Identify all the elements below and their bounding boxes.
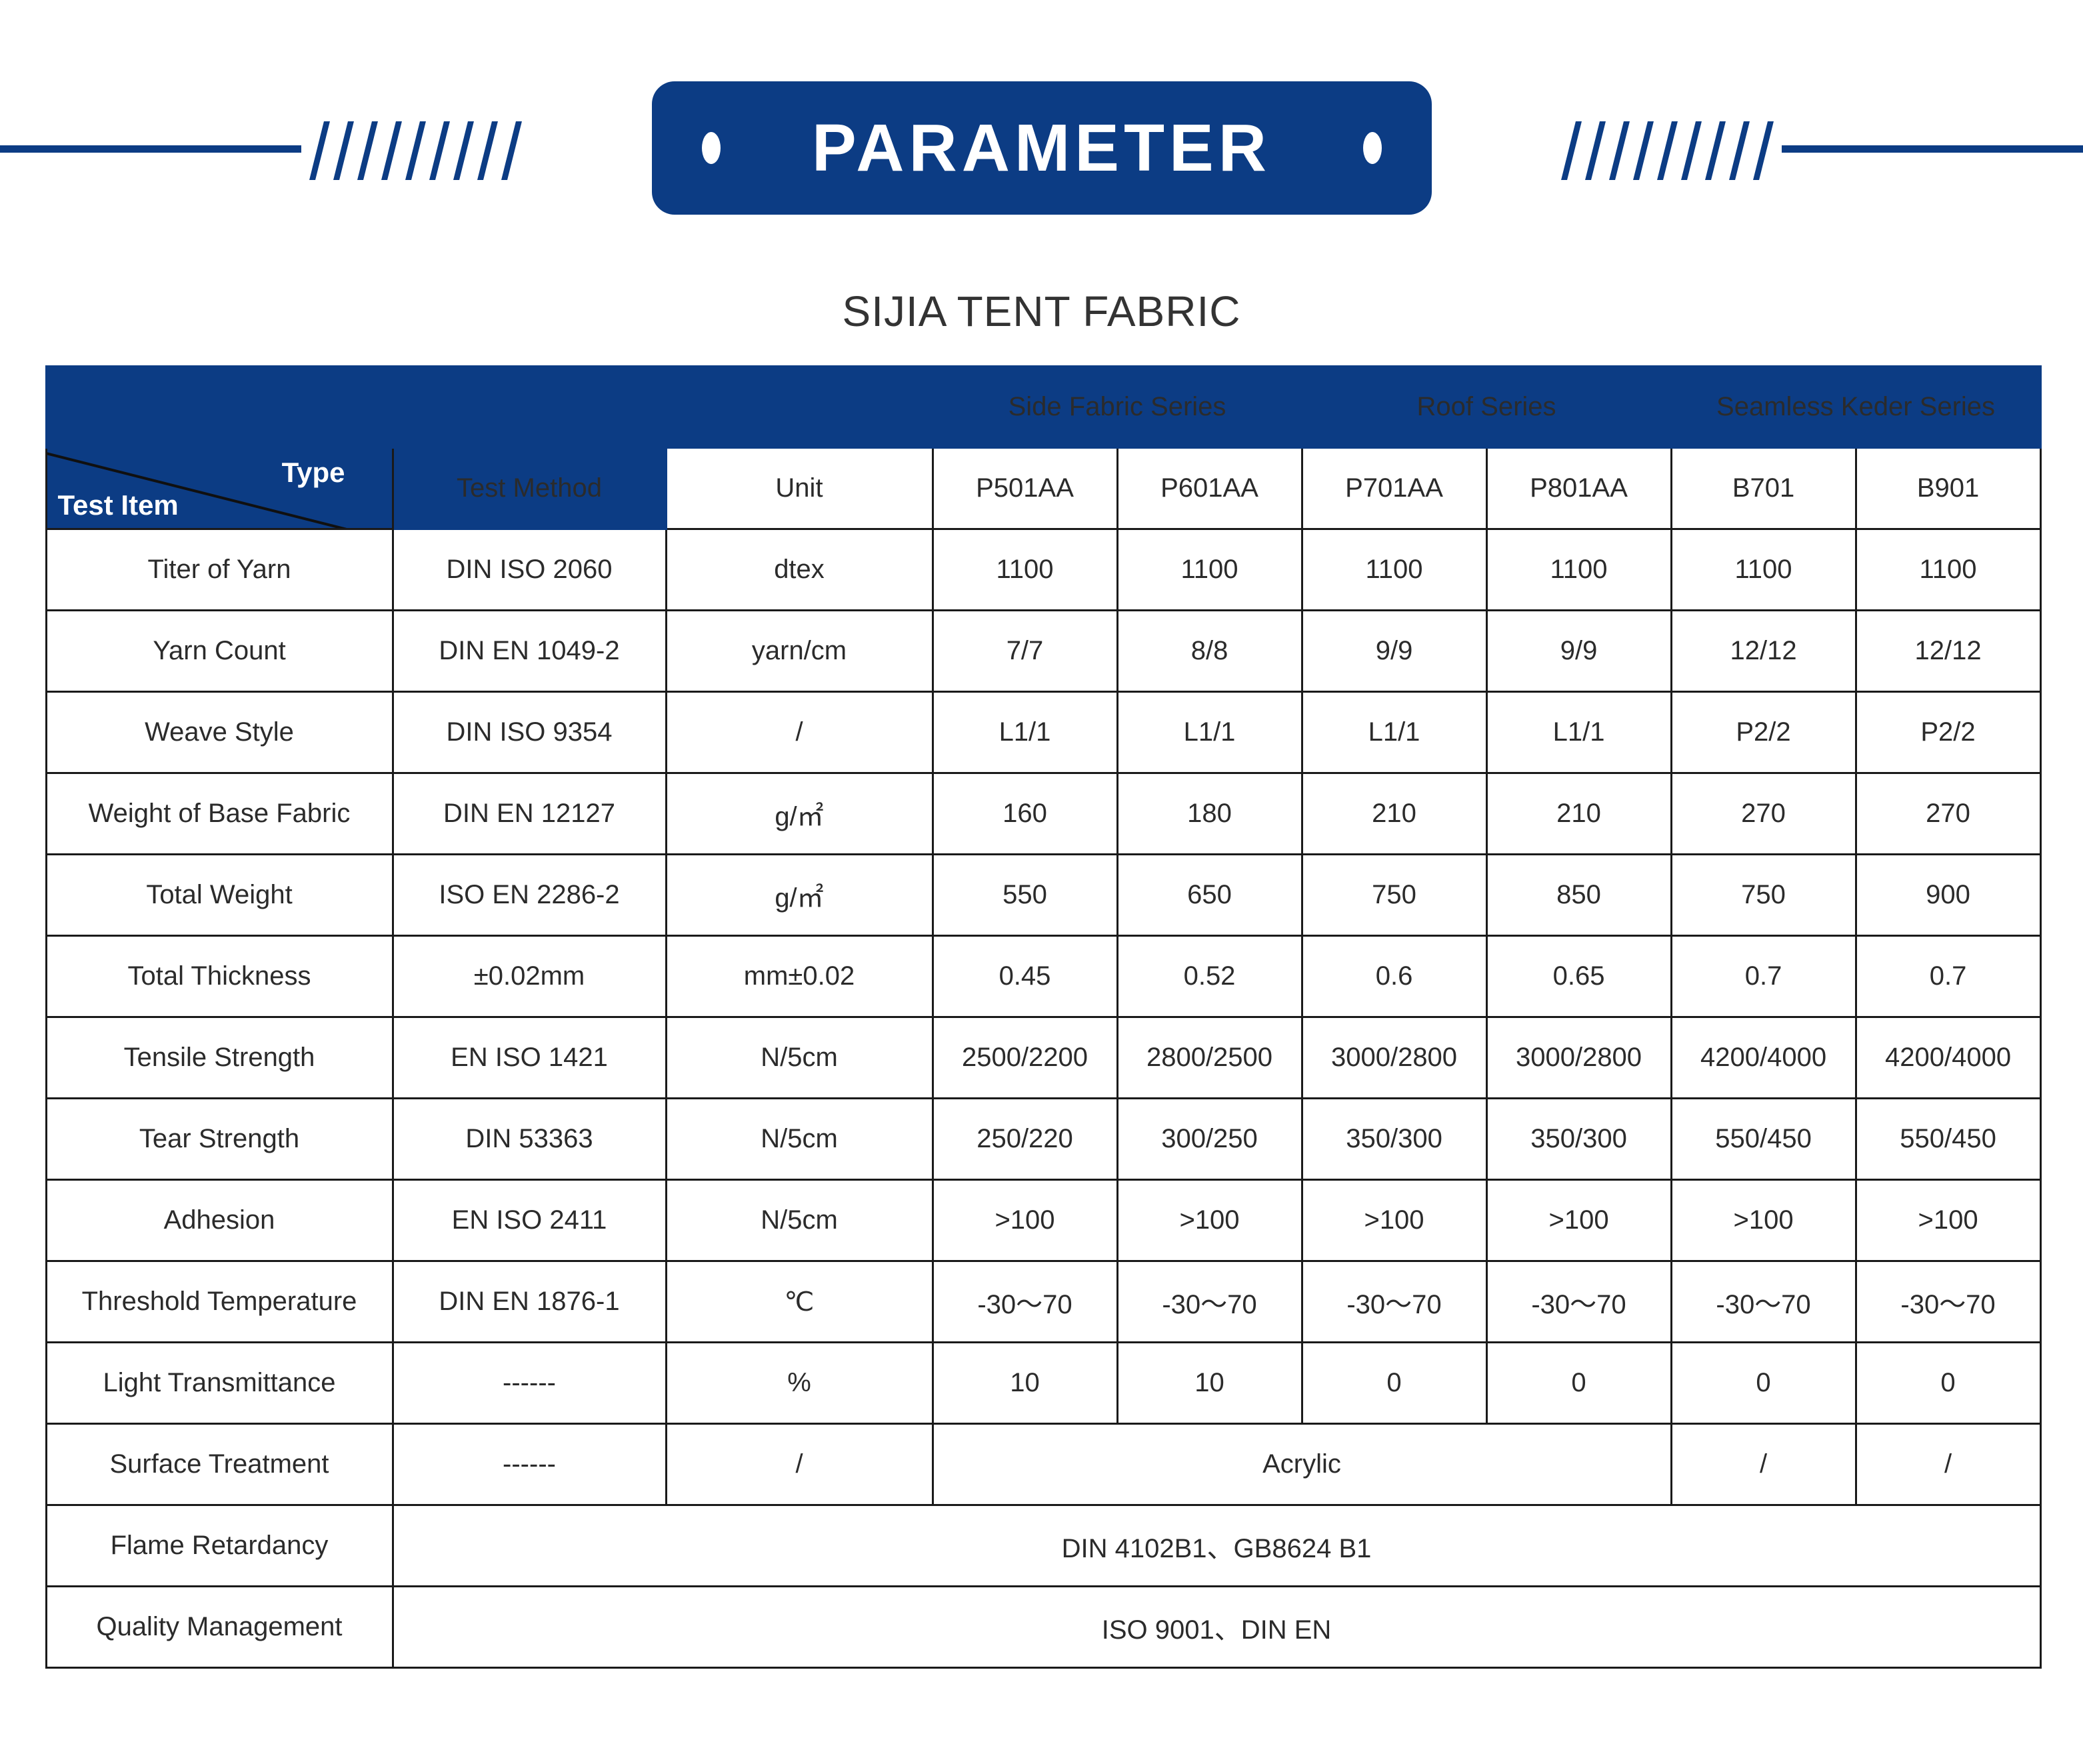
row-item-label: Titer of Yarn: [46, 529, 393, 611]
row-unit: g/㎡: [666, 855, 933, 936]
slash-mark: [453, 121, 474, 180]
table-row: Light Transmittance ------ % 10 10 0 0 0…: [46, 1343, 2040, 1424]
group-header-blank-unit: [666, 367, 933, 448]
row-value: 3000/2800: [1486, 1017, 1671, 1099]
row-value: >100: [1671, 1180, 1856, 1261]
row-value: -30～70: [1302, 1261, 1486, 1343]
row-unit: dtex: [666, 529, 933, 611]
row-value: L1/1: [1486, 692, 1671, 773]
row-value: 9/9: [1486, 611, 1671, 692]
row-value: 0: [1856, 1343, 2040, 1424]
row-value: 1100: [1671, 529, 1856, 611]
row-value: 0: [1671, 1343, 1856, 1424]
row-value: 270: [1671, 773, 1856, 855]
table-row: Total Thickness ±0.02mm mm±0.02 0.45 0.5…: [46, 936, 2040, 1017]
row-value: 180: [1117, 773, 1302, 855]
spec-table-wrapper: Side Fabric Series Roof Series Seamless …: [45, 365, 2038, 1669]
slash-mark: [1729, 121, 1750, 180]
group-header-blank-left: [46, 367, 666, 448]
column-header-p501aa: P501AA: [933, 448, 1117, 529]
row-item-label: Light Transmittance: [46, 1343, 393, 1424]
row-value: 0: [1486, 1343, 1671, 1424]
table-row: Total Weight ISO EN 2286-2 g/㎡ 550 650 7…: [46, 855, 2040, 936]
row-value: 550/450: [1856, 1099, 2040, 1180]
page-banner: PARAMETER: [0, 0, 2083, 220]
row-value: 4200/4000: [1671, 1017, 1856, 1099]
row-value: 4200/4000: [1856, 1017, 2040, 1099]
column-header-p801aa: P801AA: [1486, 448, 1671, 529]
row-item-label: Total Thickness: [46, 936, 393, 1017]
row-value: /: [1671, 1424, 1856, 1505]
row-value: 750: [1671, 855, 1856, 936]
row-value: P2/2: [1856, 692, 2040, 773]
row-value: 0: [1302, 1343, 1486, 1424]
table-row: Threshold Temperature DIN EN 1876-1 ℃ -3…: [46, 1261, 2040, 1343]
table-row-quality-management: Quality Management ISO 9001、DIN EN: [46, 1587, 2040, 1668]
column-header-b701: B701: [1671, 448, 1856, 529]
row-unit: N/5cm: [666, 1180, 933, 1261]
row-value-full-span: DIN 4102B1、GB8624 B1: [393, 1505, 2040, 1587]
slash-mark: [1753, 121, 1774, 180]
row-item-label: Weight of Base Fabric: [46, 773, 393, 855]
table-row: Weave Style DIN ISO 9354 / L1/1 L1/1 L1/…: [46, 692, 2040, 773]
row-value: >100: [1302, 1180, 1486, 1261]
column-header-p601aa: P601AA: [1117, 448, 1302, 529]
slash-mark: [1609, 121, 1630, 180]
row-unit: /: [666, 692, 933, 773]
corner-item-label: Test Item: [58, 489, 179, 521]
corner-type-label: Type: [282, 457, 345, 489]
row-value: 300/250: [1117, 1099, 1302, 1180]
column-header-test-method: Test Method: [393, 448, 666, 529]
slash-mark: [501, 121, 522, 180]
row-value: 10: [933, 1343, 1117, 1424]
badge-dot-right-icon: [1363, 132, 1382, 164]
row-value: 1100: [1302, 529, 1486, 611]
slash-mark: [357, 121, 378, 180]
table-row: Adhesion EN ISO 2411 N/5cm >100 >100 >10…: [46, 1180, 2040, 1261]
corner-split-cell: Type Test Item: [46, 448, 393, 529]
row-value: 900: [1856, 855, 2040, 936]
row-value: -30～70: [1486, 1261, 1671, 1343]
row-test-method: DIN EN 12127: [393, 773, 666, 855]
row-test-method: ISO EN 2286-2: [393, 855, 666, 936]
table-row: Weight of Base Fabric DIN EN 12127 g/㎡ 1…: [46, 773, 2040, 855]
row-item-label: Tensile Strength: [46, 1017, 393, 1099]
badge-dot-left-icon: [702, 132, 721, 164]
row-item-label: Weave Style: [46, 692, 393, 773]
row-value: 650: [1117, 855, 1302, 936]
row-value: 750: [1302, 855, 1486, 936]
banner-rule-left: [0, 145, 301, 153]
row-item-label: Threshold Temperature: [46, 1261, 393, 1343]
slash-mark: [1705, 121, 1726, 180]
group-header-roof: Roof Series: [1302, 367, 1671, 448]
row-value: 0.6: [1302, 936, 1486, 1017]
row-value: 270: [1856, 773, 2040, 855]
row-value: 0.7: [1671, 936, 1856, 1017]
row-value-merged-acrylic: Acrylic: [933, 1424, 1671, 1505]
row-value: 7/7: [933, 611, 1117, 692]
row-item-label: Yarn Count: [46, 611, 393, 692]
slash-mark: [333, 121, 354, 180]
row-test-method: DIN 53363: [393, 1099, 666, 1180]
page-subtitle: SIJIA TENT FABRIC: [0, 287, 2083, 336]
row-test-method: DIN EN 1049-2: [393, 611, 666, 692]
row-value: 0.7: [1856, 936, 2040, 1017]
table-row: Tensile Strength EN ISO 1421 N/5cm 2500/…: [46, 1017, 2040, 1099]
row-value: 250/220: [933, 1099, 1117, 1180]
row-unit: /: [666, 1424, 933, 1505]
banner-rule-right: [1782, 145, 2083, 153]
row-value: L1/1: [1302, 692, 1486, 773]
row-value: 850: [1486, 855, 1671, 936]
row-test-method: DIN ISO 9354: [393, 692, 666, 773]
row-unit: mm±0.02: [666, 936, 933, 1017]
row-value: 1100: [933, 529, 1117, 611]
table-row: Tear Strength DIN 53363 N/5cm 250/220 30…: [46, 1099, 2040, 1180]
row-test-method: DIN EN 1876-1: [393, 1261, 666, 1343]
table-row: Yarn Count DIN EN 1049-2 yarn/cm 7/7 8/8…: [46, 611, 2040, 692]
row-value: >100: [1486, 1180, 1671, 1261]
row-value: P2/2: [1671, 692, 1856, 773]
row-value: 12/12: [1856, 611, 2040, 692]
banner-slashes-left: [317, 121, 515, 180]
row-unit: yarn/cm: [666, 611, 933, 692]
row-item-label: Adhesion: [46, 1180, 393, 1261]
row-value: 350/300: [1486, 1099, 1671, 1180]
row-unit: g/㎡: [666, 773, 933, 855]
slash-mark: [477, 121, 498, 180]
row-test-method: EN ISO 1421: [393, 1017, 666, 1099]
table-row-flame-retardancy: Flame Retardancy DIN 4102B1、GB8624 B1: [46, 1505, 2040, 1587]
row-value: >100: [1856, 1180, 2040, 1261]
row-unit: N/5cm: [666, 1099, 933, 1180]
row-value: L1/1: [933, 692, 1117, 773]
row-value: 2800/2500: [1117, 1017, 1302, 1099]
column-header-unit: Unit: [666, 448, 933, 529]
row-value: 0.45: [933, 936, 1117, 1017]
slash-mark: [429, 121, 450, 180]
column-header-p701aa: P701AA: [1302, 448, 1486, 529]
row-value: 550/450: [1671, 1099, 1856, 1180]
row-value: 0.65: [1486, 936, 1671, 1017]
slash-mark: [309, 121, 330, 180]
column-header-b901: B901: [1856, 448, 2040, 529]
row-value-full-span: ISO 9001、DIN EN: [393, 1587, 2040, 1668]
row-value: /: [1856, 1424, 2040, 1505]
row-test-method: DIN ISO 2060: [393, 529, 666, 611]
group-header-seamless-keder: Seamless Keder Series: [1671, 367, 2040, 448]
row-value: 1100: [1856, 529, 2040, 611]
row-unit: %: [666, 1343, 933, 1424]
row-value: >100: [933, 1180, 1117, 1261]
row-value: 1100: [1117, 529, 1302, 611]
column-header-row: Type Test Item Test Method Unit P501AA P…: [46, 448, 2040, 529]
slash-mark: [381, 121, 402, 180]
row-item-label: Total Weight: [46, 855, 393, 936]
row-value: L1/1: [1117, 692, 1302, 773]
slash-mark: [1681, 121, 1702, 180]
row-value: 0.52: [1117, 936, 1302, 1017]
spec-table: Side Fabric Series Roof Series Seamless …: [45, 365, 2042, 1669]
row-value: -30～70: [1117, 1261, 1302, 1343]
row-value: 210: [1302, 773, 1486, 855]
row-value: 10: [1117, 1343, 1302, 1424]
row-value: >100: [1117, 1180, 1302, 1261]
row-item-label: Flame Retardancy: [46, 1505, 393, 1587]
slash-mark: [1561, 121, 1582, 180]
row-value: 8/8: [1117, 611, 1302, 692]
row-value: 160: [933, 773, 1117, 855]
slash-mark: [405, 121, 426, 180]
row-value: 2500/2200: [933, 1017, 1117, 1099]
group-header-row: Side Fabric Series Roof Series Seamless …: [46, 367, 2040, 448]
row-test-method: EN ISO 2411: [393, 1180, 666, 1261]
row-value: 550: [933, 855, 1117, 936]
row-value: -30～70: [1856, 1261, 2040, 1343]
group-header-side-fabric: Side Fabric Series: [933, 367, 1302, 448]
table-row-surface-treatment: Surface Treatment ------ / Acrylic / /: [46, 1424, 2040, 1505]
row-value: -30～70: [933, 1261, 1117, 1343]
row-item-label: Quality Management: [46, 1587, 393, 1668]
banner-title: PARAMETER: [812, 110, 1271, 187]
slash-mark: [1585, 121, 1606, 180]
row-test-method: ±0.02mm: [393, 936, 666, 1017]
row-value: 350/300: [1302, 1099, 1486, 1180]
row-test-method: ------: [393, 1424, 666, 1505]
row-value: 210: [1486, 773, 1671, 855]
row-value: 12/12: [1671, 611, 1856, 692]
row-item-label: Surface Treatment: [46, 1424, 393, 1505]
row-value: 1100: [1486, 529, 1671, 611]
banner-slashes-right: [1568, 121, 1766, 180]
row-value: 9/9: [1302, 611, 1486, 692]
slash-mark: [1657, 121, 1678, 180]
row-test-method: ------: [393, 1343, 666, 1424]
row-value: 3000/2800: [1302, 1017, 1486, 1099]
row-unit: N/5cm: [666, 1017, 933, 1099]
row-item-label: Tear Strength: [46, 1099, 393, 1180]
slash-mark: [1633, 121, 1654, 180]
row-unit: ℃: [666, 1261, 933, 1343]
table-row: Titer of Yarn DIN ISO 2060 dtex 1100 110…: [46, 529, 2040, 611]
parameter-badge: PARAMETER: [652, 81, 1432, 215]
row-value: -30～70: [1671, 1261, 1856, 1343]
